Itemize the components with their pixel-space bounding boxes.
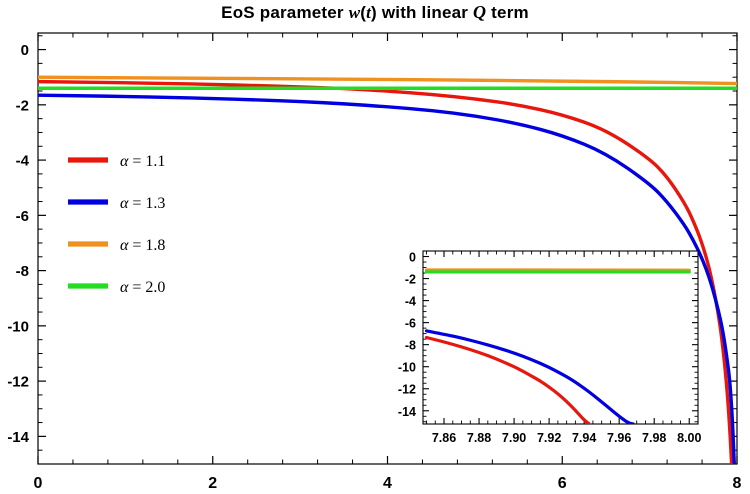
inset-x-tick-label: 7.98 xyxy=(642,431,666,445)
legend-label: α = 2.0 xyxy=(120,279,165,296)
chart-title-q-symbol: Q xyxy=(473,2,486,22)
y-tick-label: -4 xyxy=(16,153,30,170)
chart-title-pre: EoS parameter xyxy=(221,3,349,22)
chart-figure: EoS parameter w(t) with linear Q term 02… xyxy=(0,0,750,494)
chart-title-w-symbol: w xyxy=(349,3,361,22)
x-tick-label: 2 xyxy=(208,475,217,492)
legend-label: α = 1.8 xyxy=(120,237,165,254)
y-tick-label: -14 xyxy=(7,429,29,446)
inset-x-tick-label: 7.94 xyxy=(572,431,596,445)
inset-x-tick-label: 7.96 xyxy=(607,431,631,445)
y-tick-label: 0 xyxy=(21,42,29,59)
y-tick-label: -8 xyxy=(16,263,29,280)
chart-title: EoS parameter w(t) with linear Q term xyxy=(0,2,750,23)
inset-y-tick-label: -8 xyxy=(405,339,416,353)
inset-y-tick-label: -10 xyxy=(398,361,416,375)
x-tick-label: 8 xyxy=(733,475,742,492)
inset-y-tick-label: -2 xyxy=(405,273,416,287)
inset-y-tick-label: -14 xyxy=(398,405,416,419)
chart-title-mid: with linear xyxy=(377,3,473,22)
y-tick-label: -6 xyxy=(16,208,29,225)
inset-x-tick-label: 7.88 xyxy=(467,431,491,445)
y-tick-label: -12 xyxy=(7,374,29,391)
inset-x-tick-label: 7.86 xyxy=(432,431,456,445)
x-tick-label: 6 xyxy=(558,475,567,492)
legend-label: α = 1.3 xyxy=(120,195,165,212)
inset-x-tick-label: 7.92 xyxy=(537,431,561,445)
inset-y-tick-label: 0 xyxy=(409,251,416,265)
inset-y-tick-label: -4 xyxy=(405,295,416,309)
inset-y-tick-label: -12 xyxy=(398,383,416,397)
inset-y-tick-label: -6 xyxy=(405,317,416,331)
chart-title-post: term xyxy=(486,3,529,22)
x-tick-label: 0 xyxy=(34,475,43,492)
plot-area: 024680-2-4-6-8-10-12-14 α = 1.1α = 1.3α … xyxy=(0,0,750,494)
legend: α = 1.1α = 1.3α = 1.8α = 2.0 xyxy=(68,153,165,296)
legend-label: α = 1.1 xyxy=(120,153,165,170)
y-tick-label: -10 xyxy=(7,318,29,335)
inset-x-tick-label: 7.90 xyxy=(502,431,526,445)
y-tick-label: -2 xyxy=(16,97,29,114)
inset-x-tick-label: 8.00 xyxy=(677,431,701,445)
x-tick-label: 4 xyxy=(383,475,392,492)
